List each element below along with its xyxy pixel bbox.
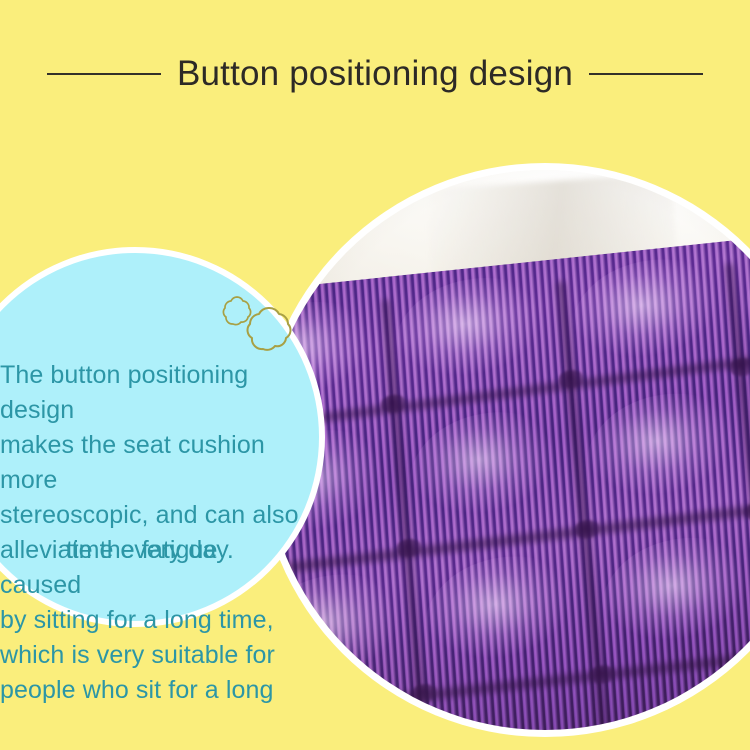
page-title: Button positioning design [177, 54, 573, 94]
title-rule-left [47, 73, 161, 75]
cushion-corduroy-surface [265, 227, 750, 730]
promo-page: Button positioning design [0, 0, 750, 750]
page-header: Button positioning design [0, 44, 750, 104]
title-rule-right [589, 73, 703, 75]
seat-cushion [265, 227, 750, 730]
product-photo [265, 170, 750, 730]
info-body-last-line: time every day. [0, 533, 300, 568]
